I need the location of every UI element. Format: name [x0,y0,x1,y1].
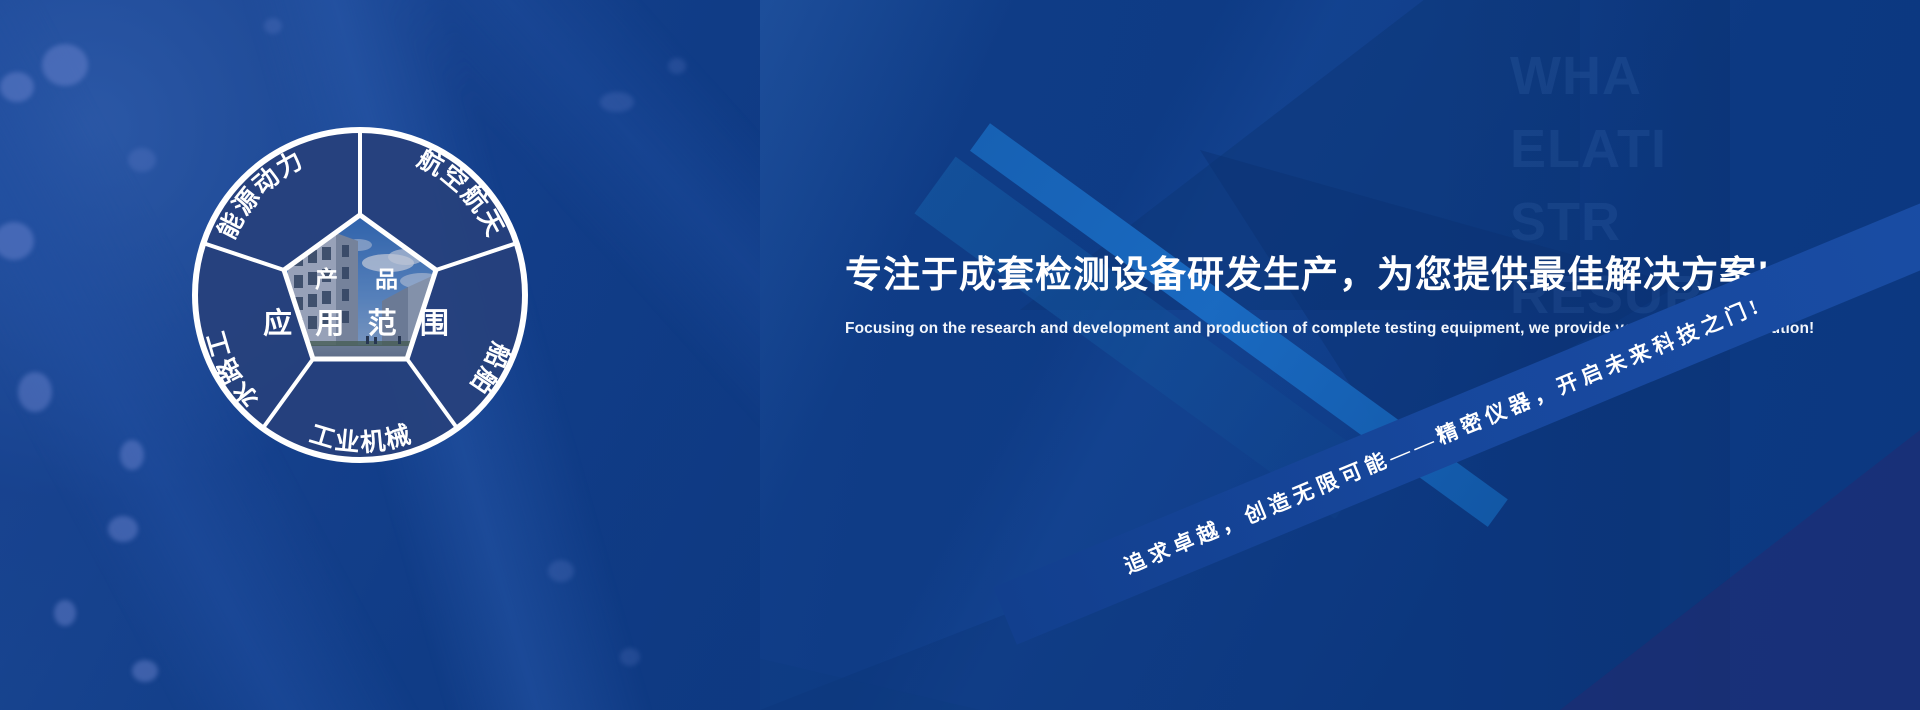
badge-center-line-2: 应 用 范 围 [263,306,457,340]
hero-headline: 专注于成套检测设备研发生产，为您提供最佳解决方案! [845,252,1745,298]
bokeh-dot [42,44,88,86]
hero-banner: WHA ELATI STR RESUR [0,0,1920,710]
bokeh-dot [548,560,574,582]
bokeh-dot [120,440,144,470]
bokeh-dot [132,660,158,682]
watermark-line-3: STR [1510,186,1790,259]
watermark-line-1: WHA [1510,40,1790,113]
badge-center-line-1: 产 品 [315,266,405,292]
bokeh-dot [264,18,282,34]
bokeh-dot [668,58,686,74]
bokeh-dot [600,92,634,112]
bokeh-dot [54,600,76,626]
hero-copy: 专注于成套检测设备研发生产，为您提供最佳解决方案! Focusing on th… [845,252,1745,338]
bokeh-dot [128,148,156,172]
application-scope-badge: 产 品 应 用 范 围 能源动力 航空航天 船舶 工业机械 水路工 [160,95,560,495]
bokeh-dot [18,372,52,412]
bokeh-dot [620,648,640,666]
bokeh-dot [108,516,138,542]
watermark-line-2: ELATI [1510,113,1790,186]
bokeh-dot [0,72,34,102]
